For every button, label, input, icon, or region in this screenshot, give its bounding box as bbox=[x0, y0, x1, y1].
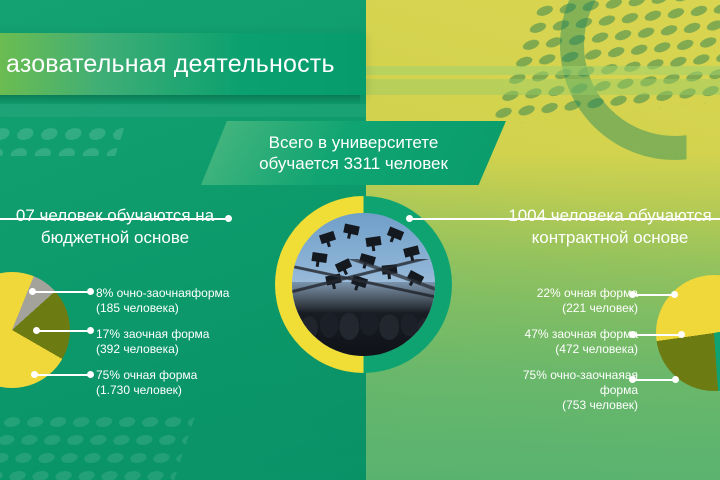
graduation-photo bbox=[292, 213, 435, 356]
legend-item-count: (472 человека) bbox=[466, 342, 638, 357]
connector-line-right-2 bbox=[633, 334, 682, 336]
infographic-slide: азовательная деятельность Всего в универ… bbox=[0, 0, 720, 480]
legend-item-label: 75% очная форма bbox=[96, 368, 197, 382]
legend-dot-left-2 bbox=[87, 327, 94, 334]
pie-slice-dot-right-2 bbox=[678, 331, 685, 338]
legend-item-count: (392 человека) bbox=[96, 342, 276, 357]
legend-item-count: (1.730 человек) bbox=[96, 383, 276, 398]
right-heading-line-2: контрактной основе bbox=[470, 227, 720, 249]
title-banner: азовательная деятельность bbox=[0, 33, 366, 95]
legend-item: 75% очная форма (1.730 человек) bbox=[96, 368, 276, 398]
left-heading-line-1: 07 человек обучаются на bbox=[0, 205, 260, 227]
center-circle-ring bbox=[275, 196, 452, 373]
connector-line-right-3 bbox=[633, 379, 676, 381]
page-title: азовательная деятельность bbox=[0, 50, 335, 79]
dot-pattern-top-left-icon bbox=[0, 126, 125, 156]
legend-item-label: 8% очно-заочнаяформа bbox=[96, 286, 229, 300]
connector-line-left-1 bbox=[33, 291, 90, 293]
legend-dot-left-3 bbox=[87, 371, 94, 378]
subtitle-line-1: Всего в университете bbox=[269, 132, 439, 153]
right-heading-line-1: 1004 человека обучаются bbox=[470, 205, 720, 227]
stripe-band-left bbox=[0, 104, 366, 117]
connector-line-left-3 bbox=[35, 374, 90, 376]
dot-pattern-bottom-left-icon bbox=[0, 415, 195, 480]
connector-dot-center-right bbox=[406, 215, 413, 222]
legend-item-count: (221 человек) bbox=[466, 301, 638, 316]
legend-item: 8% очно-заочнаяформа (185 человека) bbox=[96, 286, 276, 316]
legend-item-label: 47% заочная форма bbox=[525, 327, 638, 341]
legend-item: 22% очная форма (221 человек) bbox=[466, 286, 638, 316]
stripe-band-upper bbox=[366, 66, 720, 75]
legend-item-label: 22% очная форма bbox=[537, 286, 638, 300]
right-section-heading: 1004 человека обучаются контрактной осно… bbox=[470, 205, 720, 249]
connector-line-left-2 bbox=[37, 330, 90, 332]
photo-graduates-crowd bbox=[292, 282, 435, 356]
legend-item-label: 17% заочная форма bbox=[96, 327, 209, 341]
legend-item: 47% заочная форма (472 человека) bbox=[466, 327, 638, 357]
title-banner-shadow bbox=[0, 95, 360, 105]
stripe-band-lower bbox=[366, 79, 720, 95]
pie-slice-dot-right-3 bbox=[672, 376, 679, 383]
legend-item: 75% очно-заочнаяая форма (753 человек) bbox=[466, 368, 638, 413]
legend-item-label: 75% очно-заочнаяая bbox=[523, 368, 638, 382]
legend-item: 17% заочная форма (392 человека) bbox=[96, 327, 276, 357]
subtitle-banner: Всего в университете обучается 3311 чело… bbox=[201, 121, 506, 185]
pie-slice-dot-right-1 bbox=[671, 291, 678, 298]
legend-budget: 8% очно-заочнаяформа (185 человека) 17% … bbox=[96, 286, 276, 409]
legend-item-count: (185 человека) bbox=[96, 301, 276, 316]
legend-dot-left-1 bbox=[87, 288, 94, 295]
legend-item-label-2: форма bbox=[466, 383, 638, 398]
left-section-heading: 07 человек обучаются на бюджетной основе bbox=[0, 205, 260, 249]
connector-line-right-1 bbox=[633, 294, 675, 296]
legend-contract: 22% очная форма (221 человек) 47% заочна… bbox=[466, 286, 638, 424]
left-heading-line-2: бюджетной основе bbox=[0, 227, 260, 249]
subtitle-line-2: обучается 3311 человек bbox=[259, 153, 448, 174]
legend-item-count: (753 человек) bbox=[466, 398, 638, 413]
